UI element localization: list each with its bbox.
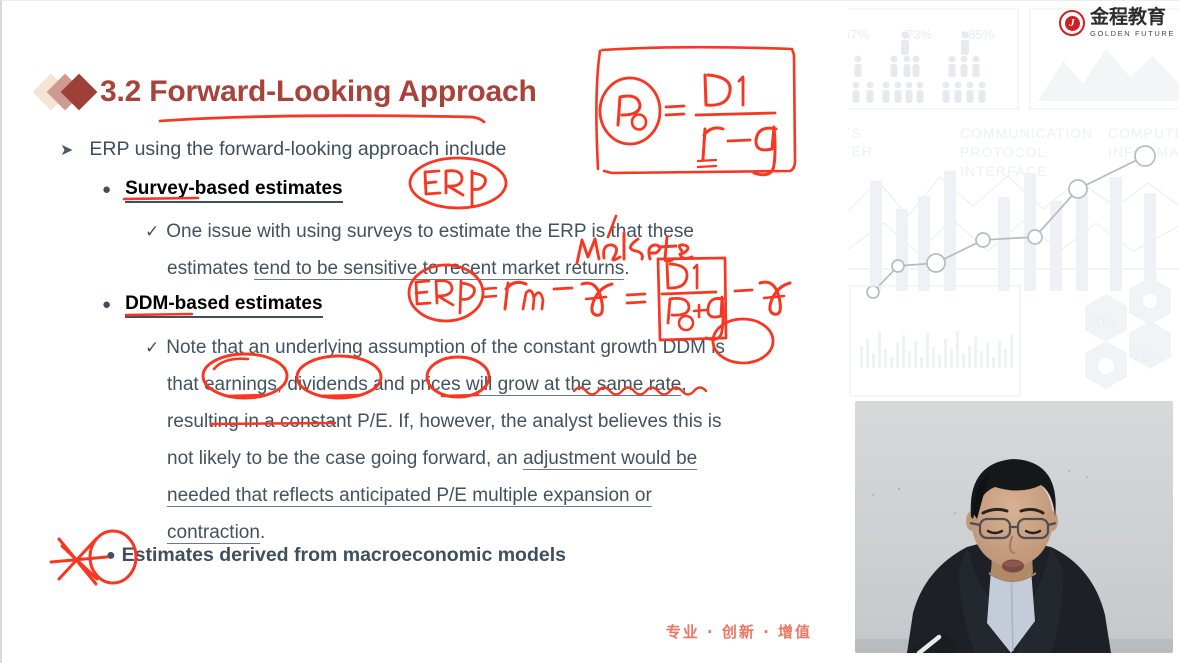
- survey-line-2-suffix: .: [624, 258, 629, 279]
- survey-detail-block: ✓One issue with using surveys to estimat…: [145, 213, 805, 287]
- svg-text:72%: 72%: [1132, 348, 1162, 365]
- svg-text:40%: 40%: [1088, 315, 1118, 332]
- slide-area: 3.2 Forward-Looking Approach ➤ ERP using…: [2, 1, 848, 663]
- bullet-macroeconomic-models: ● Estimates derived from macroeconomic m…: [106, 544, 566, 567]
- presentation-screen: 3.2 Forward-Looking Approach ➤ ERP using…: [0, 0, 1179, 663]
- dot-bullet-icon: ●: [102, 297, 111, 312]
- ddm-line-2-prefix: that earnings, dividends and prices: [167, 374, 466, 395]
- survey-line-2-underlined: tend to be sensitive to recent market re…: [254, 258, 625, 280]
- bullet-survey-based: ● Survey-based estimates: [102, 178, 343, 203]
- svg-text:COMMUNICATION: COMMUNICATION: [960, 125, 1093, 141]
- ddm-line-5: needed that reflects anticipated P/E mul…: [145, 477, 825, 514]
- ddm-line-1-text: Note that an underlying assumption of th…: [166, 337, 725, 358]
- seal-icon: J: [1059, 10, 1085, 36]
- ddm-line-3-text: resulting in a constant P/E. If, however…: [167, 411, 721, 432]
- ddm-heading: DDM-based estimates: [125, 293, 322, 318]
- svg-text:47%: 47%: [848, 27, 869, 42]
- svg-text:85%: 85%: [968, 27, 994, 42]
- footer-slogan: 专业 · 创新 · 增值: [666, 621, 812, 642]
- check-bullet-icon: ✓: [145, 222, 159, 241]
- check-bullet-icon: ✓: [145, 338, 159, 357]
- svg-text:TS: TS: [848, 125, 862, 141]
- ddm-line-4-prefix: not likely to be the case going forward,…: [167, 448, 523, 469]
- dot-bullet-icon: ●: [102, 182, 111, 197]
- ddm-line-6-suffix: .: [260, 522, 265, 543]
- ddm-line-4: not likely to be the case going forward,…: [145, 440, 825, 477]
- ddm-detail-block: ✓Note that an underlying assumption of t…: [145, 329, 825, 551]
- ddm-line-3: resulting in a constant P/E. If, however…: [145, 403, 825, 440]
- video-frame-content: [855, 401, 1173, 653]
- infographic-watermark: 47% 73% 85%: [848, 1, 1179, 401]
- seal-inner-glyph: J: [1065, 16, 1080, 31]
- brand-logo: J 金程教育 GOLDEN FUTURE: [1059, 8, 1175, 38]
- bullet-level1-erp: ➤ ERP using the forward-looking approach…: [60, 138, 506, 161]
- arrow-bullet-icon: ➤: [60, 140, 73, 160]
- logo-chinese-name: 金程教育: [1090, 8, 1175, 27]
- instructor-video-feed[interactable]: [855, 401, 1173, 653]
- survey-line-2: estimates tend to be sensitive to recent…: [145, 250, 805, 287]
- survey-line-1-text: One issue with using surveys to estimate…: [166, 221, 694, 242]
- slide-title-row: 3.2 Forward-Looking Approach: [38, 71, 537, 113]
- svg-text:PROTOCOL: PROTOCOL: [960, 144, 1046, 160]
- svg-text:COMPUTER: COMPUTER: [1108, 125, 1179, 141]
- bullet-level1-text: ERP using the forward-looking approach i…: [89, 138, 506, 161]
- ddm-line-2-suffix: ,: [681, 374, 686, 395]
- svg-text:73%: 73%: [906, 27, 932, 42]
- ddm-line-4-underlined: adjustment would be: [523, 448, 697, 470]
- bullet-ddm-based: ● DDM-based estimates: [102, 293, 323, 318]
- macro-heading: Estimates derived from macroeconomic mod…: [122, 544, 566, 567]
- diamond-bullet-icon: [38, 71, 100, 113]
- logo-english-name: GOLDEN FUTURE: [1090, 29, 1175, 38]
- page-title: 3.2 Forward-Looking Approach: [100, 75, 537, 109]
- ddm-line-2: that earnings, dividends and prices will…: [145, 366, 825, 403]
- survey-line-2-prefix: estimates: [167, 258, 254, 279]
- ddm-line-5-underlined: needed that reflects anticipated P/E mul…: [167, 485, 652, 507]
- survey-line-1: ✓One issue with using surveys to estimat…: [145, 213, 805, 250]
- svg-text:TER: TER: [848, 143, 873, 159]
- dot-bullet-icon: ●: [106, 547, 116, 565]
- survey-heading: Survey-based estimates: [125, 178, 343, 203]
- ddm-line-2-underlined: will grow at the same rate: [466, 374, 681, 396]
- ddm-line-6-underlined: contraction: [167, 522, 260, 544]
- logo-text-block: 金程教育 GOLDEN FUTURE: [1090, 8, 1175, 38]
- ddm-line-1: ✓Note that an underlying assumption of t…: [145, 329, 825, 366]
